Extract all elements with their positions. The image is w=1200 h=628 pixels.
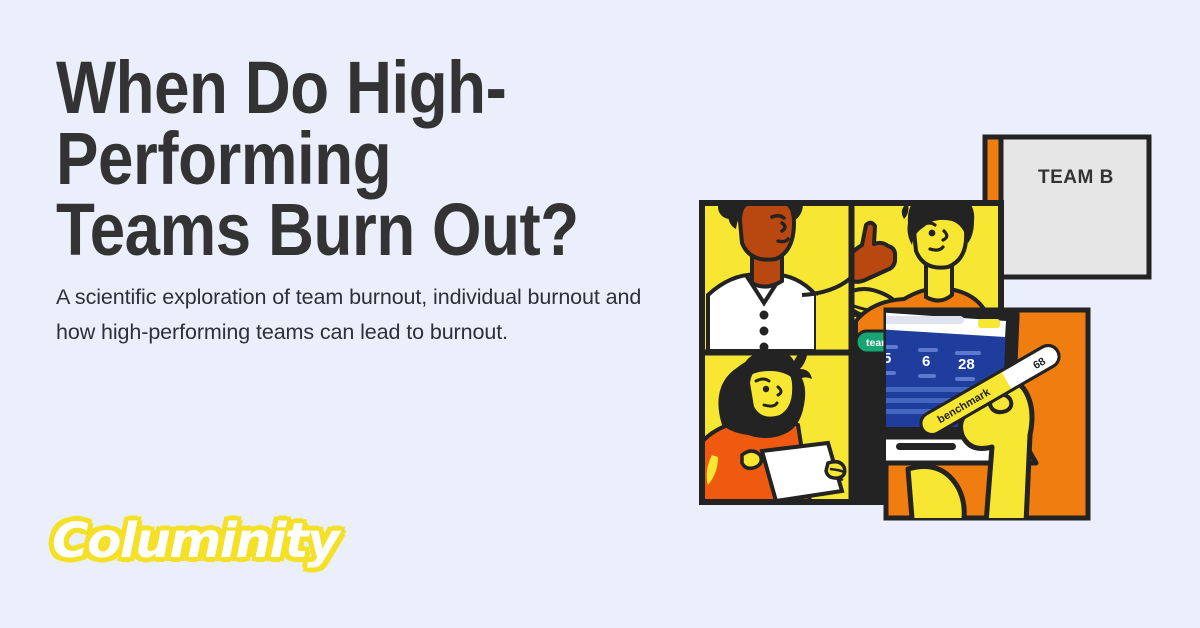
brand-logo[interactable]: Columinity — [52, 505, 327, 577]
team-collaboration-illustration: TEAM B — [690, 125, 1160, 575]
dashboard-stat-3: 28 — [958, 356, 975, 373]
panel-woman-white-shirt — [702, 159, 854, 352]
team-b-card: TEAM B — [985, 137, 1149, 277]
page-title: When Do High-Performing Teams Burn Out? — [56, 52, 589, 265]
panel-woman-writing — [692, 350, 850, 502]
dashboard-stat-2: 6 — [922, 353, 930, 370]
hero-text-column: When Do High-Performing Teams Burn Out? … — [56, 52, 676, 265]
poster-canvas: When Do High-Performing Teams Burn Out? … — [0, 0, 1200, 628]
page-subtitle: A scientific exploration of team burnout… — [56, 280, 666, 350]
team-b-label: TEAM B — [1038, 167, 1114, 188]
brand-logo-text: Columinity — [52, 513, 338, 569]
